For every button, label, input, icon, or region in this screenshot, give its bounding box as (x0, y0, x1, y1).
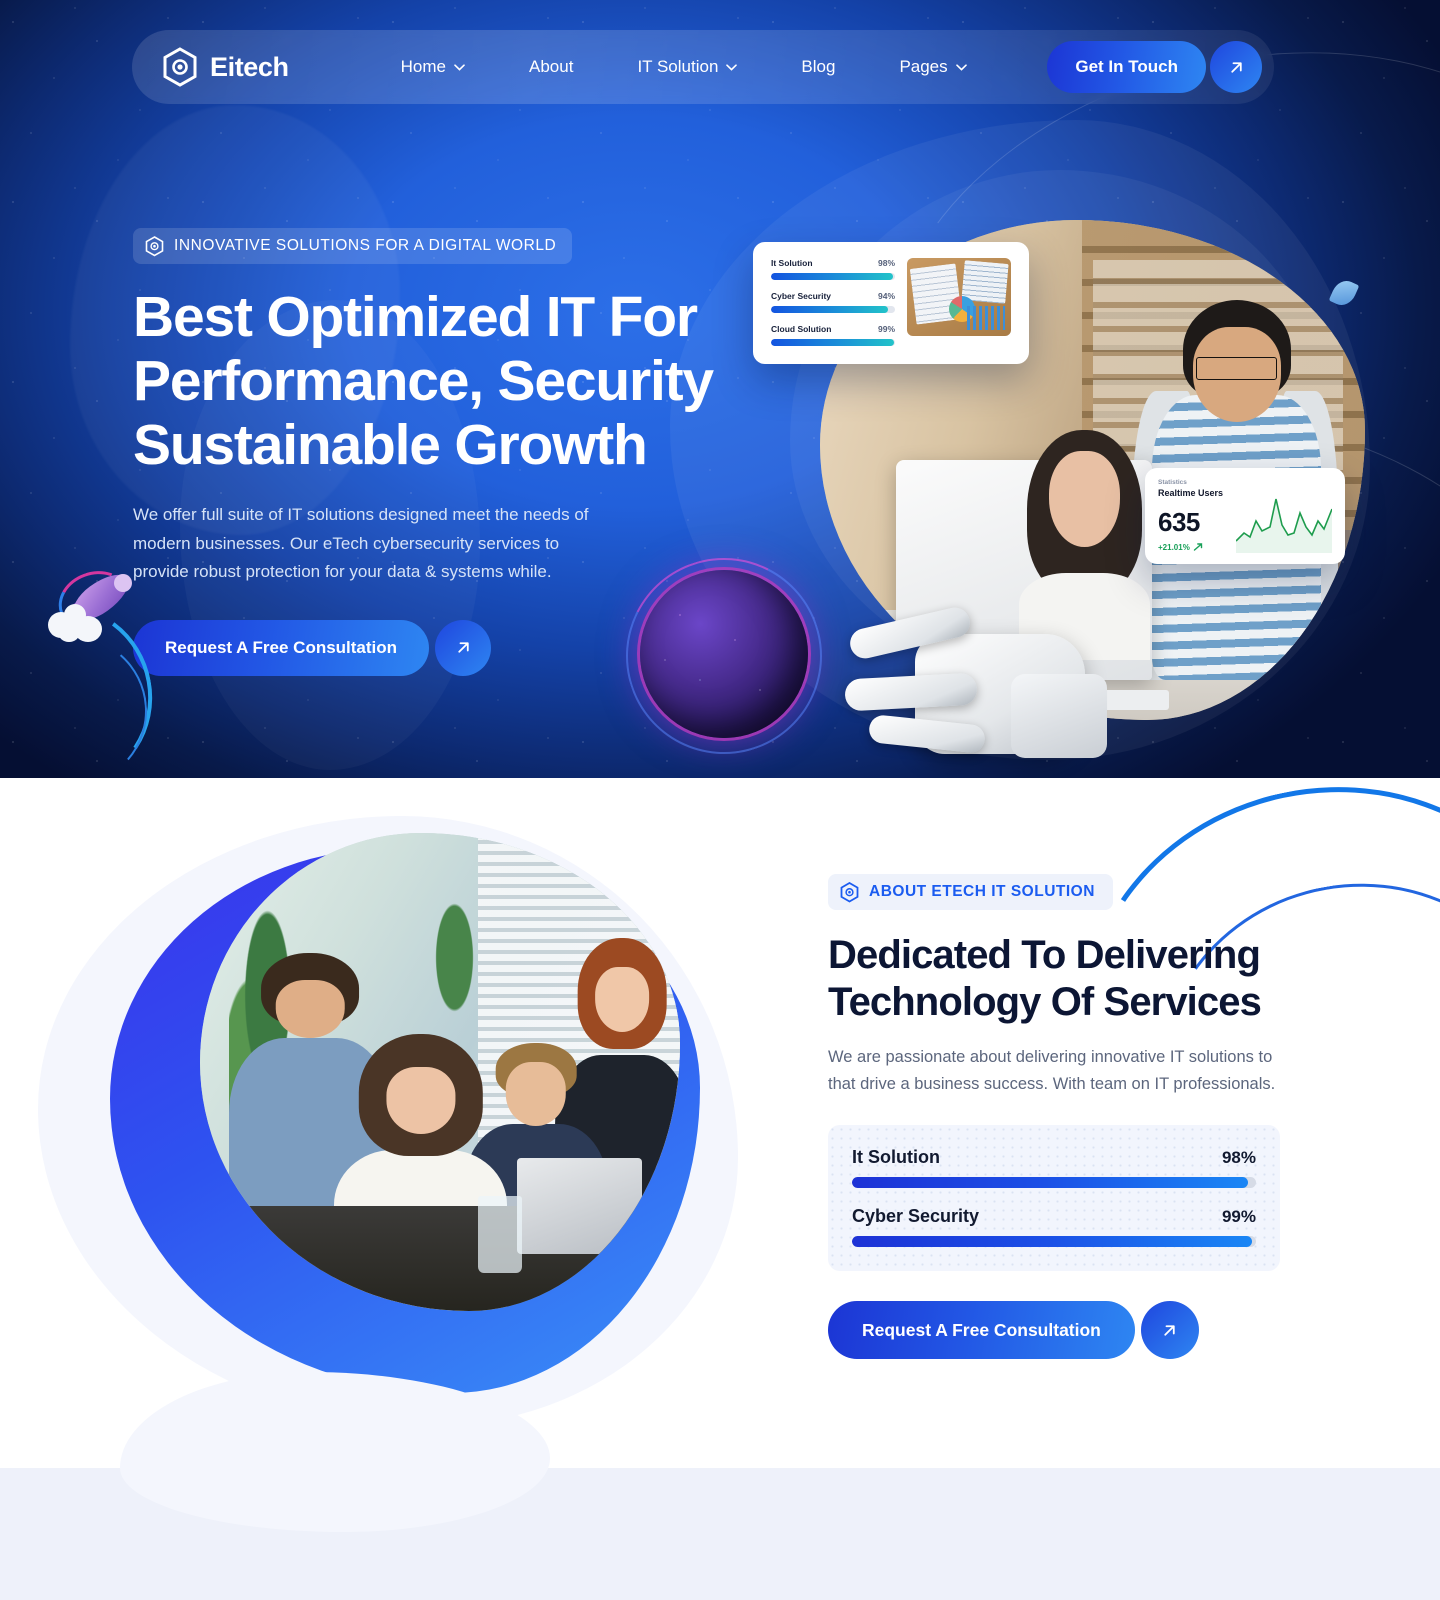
nav-item-label: Blog (801, 57, 835, 77)
skill-row: It Solution 98% (852, 1147, 1256, 1188)
skill-label: Cyber Security (771, 291, 831, 301)
arrow-up-right-icon (454, 638, 473, 657)
hero-consultation-button[interactable]: Request A Free Consultation (133, 620, 429, 676)
get-in-touch-button[interactable]: Get In Touch (1047, 41, 1206, 93)
nav-item-home[interactable]: Home (369, 47, 497, 87)
hexagon-logo-icon (162, 47, 198, 87)
statistics-sparkline-chart (1236, 491, 1332, 553)
main-navbar: Eitech Home About IT Solution Blog (132, 30, 1274, 104)
hero-consultation-arrow-button[interactable] (435, 620, 491, 676)
arrow-up-right-icon (1160, 1321, 1179, 1340)
hero-paragraph: We offer full suite of IT solutions desi… (133, 501, 603, 585)
hero-badge: INNOVATIVE SOLUTIONS FOR A DIGITAL WORLD (133, 228, 572, 264)
trend-up-icon (1193, 542, 1203, 552)
skill-percent: 98% (878, 258, 895, 268)
hexagon-badge-icon (145, 236, 164, 257)
skill-label: It Solution (852, 1147, 940, 1168)
nav-item-label: Pages (899, 57, 947, 77)
robot-hand-illustration (825, 570, 1085, 778)
brand-logo[interactable]: Eitech (162, 47, 289, 87)
nav-item-about[interactable]: About (497, 47, 605, 87)
hero-skills-card: It Solution 98% Cyber Security 94% Cloud… (753, 242, 1029, 364)
hero-section: Eitech Home About IT Solution Blog (0, 0, 1440, 778)
statistics-value: 635 (1158, 507, 1223, 538)
skill-progress-track (852, 1177, 1256, 1188)
about-skills-card: It Solution 98% Cyber Security 99% (828, 1125, 1280, 1271)
hexagon-badge-icon (840, 882, 859, 903)
about-heading: Dedicated To Delivering Technology Of Se… (828, 932, 1298, 1026)
skill-row: Cyber Security 94% (771, 291, 895, 313)
brand-name: Eitech (210, 52, 289, 83)
skill-percent: 98% (1222, 1148, 1256, 1168)
rocket-illustration (42, 566, 152, 676)
arrow-up-right-icon (1227, 58, 1246, 77)
nav-item-it-solution[interactable]: IT Solution (605, 47, 769, 87)
about-team-photo (200, 833, 680, 1311)
hero-statistics-card: Statistics Realtime Users 635 +21.01% (1145, 468, 1345, 564)
about-consultation-button[interactable]: Request A Free Consultation (828, 1301, 1135, 1359)
get-in-touch-arrow-button[interactable] (1210, 41, 1262, 93)
statistics-delta-value: +21.01% (1158, 543, 1190, 552)
hero-visual: It Solution 98% Cyber Security 94% Cloud… (640, 150, 1400, 770)
skill-row: Cloud Solution 99% (771, 324, 895, 346)
skill-row: Cyber Security 99% (852, 1206, 1256, 1247)
statistics-delta: +21.01% (1158, 542, 1223, 552)
skill-label: It Solution (771, 258, 813, 268)
hero-badge-text: INNOVATIVE SOLUTIONS FOR A DIGITAL WORLD (174, 237, 556, 255)
about-paragraph: We are passionate about delivering innov… (828, 1044, 1298, 1097)
skills-card-thumbnail (907, 258, 1011, 336)
about-cta-group: Request A Free Consultation (828, 1301, 1298, 1359)
nav-item-label: Home (401, 57, 446, 77)
statistics-title: Realtime Users (1158, 488, 1223, 498)
skill-label: Cloud Solution (771, 324, 831, 334)
nav-cta-group: Get In Touch (1047, 41, 1262, 93)
about-badge: ABOUT ETECH IT SOLUTION (828, 874, 1113, 910)
chevron-down-icon (726, 64, 737, 71)
nav-item-label: IT Solution (637, 57, 718, 77)
skill-percent: 99% (1222, 1207, 1256, 1227)
skill-percent: 94% (878, 291, 895, 301)
chevron-down-icon (956, 64, 967, 71)
skill-row: It Solution 98% (771, 258, 895, 280)
skill-label: Cyber Security (852, 1206, 979, 1227)
nav-item-pages[interactable]: Pages (867, 47, 998, 87)
bottom-band (0, 1468, 1440, 1600)
nav-links: Home About IT Solution Blog Pages (369, 47, 999, 87)
nav-item-label: About (529, 57, 573, 77)
about-content: ABOUT ETECH IT SOLUTION Dedicated To Del… (828, 874, 1298, 1359)
skill-percent: 99% (878, 324, 895, 334)
statistics-label: Statistics (1158, 479, 1223, 486)
skill-progress-track (852, 1236, 1256, 1247)
nav-item-blog[interactable]: Blog (769, 47, 867, 87)
chevron-down-icon (454, 64, 465, 71)
about-consultation-arrow-button[interactable] (1141, 1301, 1199, 1359)
about-badge-text: ABOUT ETECH IT SOLUTION (869, 883, 1095, 901)
